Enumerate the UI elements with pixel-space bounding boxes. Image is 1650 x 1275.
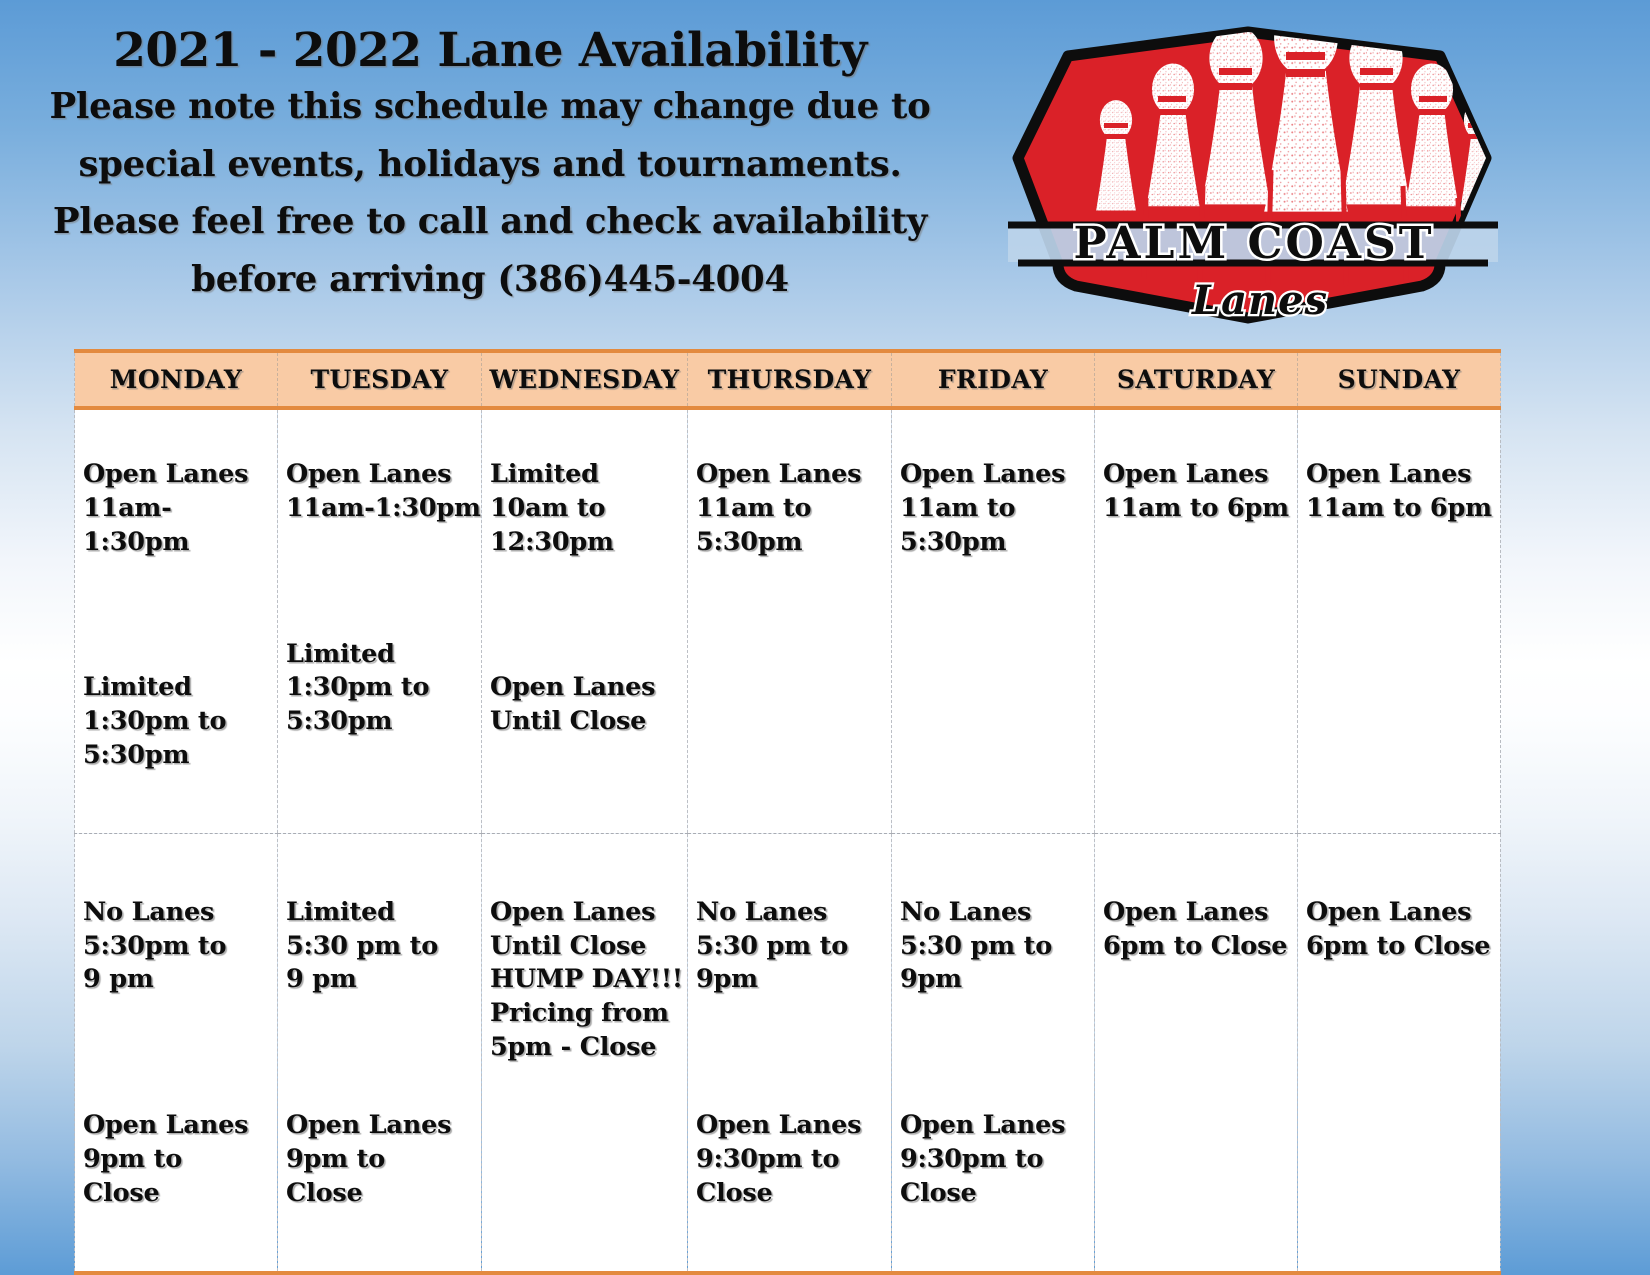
cell-block-secondary: Open Lanes 9:30pm to Close — [696, 1109, 891, 1211]
cell-block-secondary: Open Lanes Until Close — [490, 671, 687, 739]
cell-block-primary: Limited 5:30 pm to 9 pm — [286, 896, 481, 998]
column-header-saturday: SATURDAY — [1095, 351, 1298, 408]
cell-spacer — [1103, 560, 1297, 604]
cell-monday-daytime: Open Lanes 11am-1:30pm Limited 1:30pm to… — [75, 408, 278, 833]
page-title: 2021 - 2022 Lane Availability — [30, 24, 950, 78]
note-line-2: special events, holidays and tournaments… — [30, 136, 950, 194]
table-row: No Lanes 5:30pm to 9 pm Open Lanes 9pm t… — [75, 833, 1501, 1273]
logo-name-top-text: PALM COAST — [1074, 218, 1435, 269]
cell-tuesday-evening: Limited 5:30 pm to 9 pm Open Lanes 9pm t… — [278, 833, 482, 1273]
cell-tuesday-daytime: Open Lanes 11am-1:30pm Limited 1:30pm to… — [278, 408, 482, 833]
cell-block-primary: No Lanes 5:30 pm to 9pm — [696, 896, 891, 998]
cell-block-primary: Open Lanes 6pm to Close — [1306, 896, 1500, 964]
cell-spacer — [1306, 997, 1500, 1041]
cell-wednesday-evening: Open Lanes Until Close HUMP DAY!!! Prici… — [482, 833, 688, 1273]
cell-block-primary: Open Lanes 11am to 6pm — [1103, 458, 1297, 526]
cell-block-secondary: Limited 1:30pm to 5:30pm — [83, 671, 277, 773]
cell-spacer — [900, 594, 1094, 638]
cell-block-secondary: Limited 1:30pm to 5:30pm — [286, 638, 481, 740]
cell-sunday-evening: Open Lanes 6pm to Close — [1298, 833, 1501, 1273]
cell-spacer — [83, 594, 277, 638]
lane-availability-table: MONDAY TUESDAY WEDNESDAY THURSDAY FRIDAY… — [74, 349, 1501, 1275]
column-header-thursday: THURSDAY — [688, 351, 892, 408]
cell-spacer — [900, 1031, 1094, 1075]
cell-sunday-daytime: Open Lanes 11am to 6pm — [1298, 408, 1501, 833]
cell-thursday-daytime: Open Lanes 11am to 5:30pm — [688, 408, 892, 833]
cell-spacer — [696, 1031, 891, 1075]
cell-block-secondary: Open Lanes 9pm to Close — [286, 1109, 481, 1211]
cell-saturday-evening: Open Lanes 6pm to Close — [1095, 833, 1298, 1273]
cell-block-secondary: Open Lanes 9:30pm to Close — [900, 1109, 1094, 1211]
cell-block-primary: Open Lanes Until Close HUMP DAY!!! Prici… — [490, 896, 687, 1066]
cell-block-primary: Open Lanes 6pm to Close — [1103, 896, 1297, 964]
note-line-3: Please feel free to call and check avail… — [30, 193, 950, 251]
column-header-monday: MONDAY — [75, 351, 278, 408]
cell-spacer — [286, 1031, 481, 1075]
cell-block-secondary: Open Lanes 9pm to Close — [83, 1109, 277, 1211]
column-header-wednesday: WEDNESDAY — [482, 351, 688, 408]
table-row: Open Lanes 11am-1:30pm Limited 1:30pm to… — [75, 408, 1501, 833]
table-header-row: MONDAY TUESDAY WEDNESDAY THURSDAY FRIDAY… — [75, 351, 1501, 408]
cell-block-primary: Open Lanes 11am to 6pm — [1306, 458, 1500, 526]
cell-friday-evening: No Lanes 5:30 pm to 9pm Open Lanes 9:30p… — [892, 833, 1095, 1273]
cell-spacer — [83, 1031, 277, 1075]
cell-spacer — [286, 560, 481, 604]
cell-block-primary: No Lanes 5:30 pm to 9pm — [900, 896, 1094, 998]
cell-block-primary: Open Lanes 11am-1:30pm — [83, 458, 277, 560]
cell-block-primary: Open Lanes 11am-1:30pm — [286, 458, 481, 526]
cell-block-primary: Open Lanes 11am to 5:30pm — [900, 458, 1094, 560]
cell-spacer — [696, 594, 891, 638]
column-header-friday: FRIDAY — [892, 351, 1095, 408]
cell-saturday-daytime: Open Lanes 11am to 6pm — [1095, 408, 1298, 833]
cell-block-primary: Open Lanes 11am to 5:30pm — [696, 458, 891, 560]
cell-wednesday-daytime: Limited 10am to 12:30pm Open Lanes Until… — [482, 408, 688, 833]
cell-thursday-evening: No Lanes 5:30 pm to 9pm Open Lanes 9:30p… — [688, 833, 892, 1273]
column-header-tuesday: TUESDAY — [278, 351, 482, 408]
cell-monday-evening: No Lanes 5:30pm to 9 pm Open Lanes 9pm t… — [75, 833, 278, 1273]
cell-spacer — [1306, 560, 1500, 604]
cell-friday-daytime: Open Lanes 11am to 5:30pm — [892, 408, 1095, 833]
cell-block-primary: Limited 10am to 12:30pm — [490, 458, 687, 560]
cell-spacer — [490, 594, 687, 638]
logo-name-bottom-text: Lanes — [1191, 277, 1328, 324]
cell-spacer — [1103, 997, 1297, 1041]
page-header: 2021 - 2022 Lane Availability Please not… — [0, 0, 980, 340]
cell-block-primary: No Lanes 5:30pm to 9 pm — [83, 896, 277, 998]
column-header-sunday: SUNDAY — [1298, 351, 1501, 408]
note-line-1: Please note this schedule may change due… — [30, 78, 950, 136]
palm-coast-lanes-logo: PALM COAST Lanes — [988, 18, 1518, 338]
note-line-4: before arriving (386)445-4004 — [30, 251, 950, 309]
